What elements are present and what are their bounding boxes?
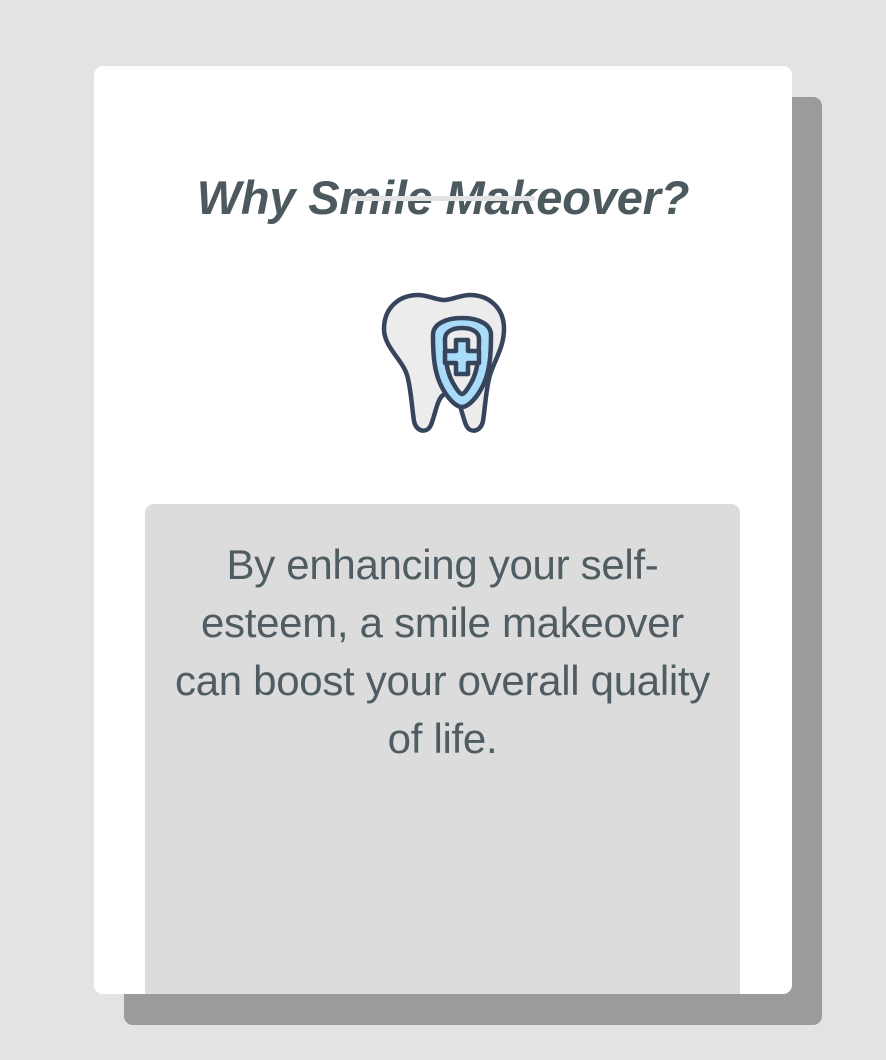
title-divider	[351, 196, 535, 201]
tooth-shield-icon-svg	[356, 281, 531, 436]
body-text: By enhancing your self-esteem, a smile m…	[173, 536, 712, 768]
tooth-shield-icon	[356, 281, 531, 436]
slide-canvas: Why Smile Makeover? By enhancing your se…	[0, 0, 886, 1060]
body-text-panel: By enhancing your self-esteem, a smile m…	[145, 504, 740, 994]
content-card: Why Smile Makeover? By enhancing your se…	[94, 66, 792, 994]
